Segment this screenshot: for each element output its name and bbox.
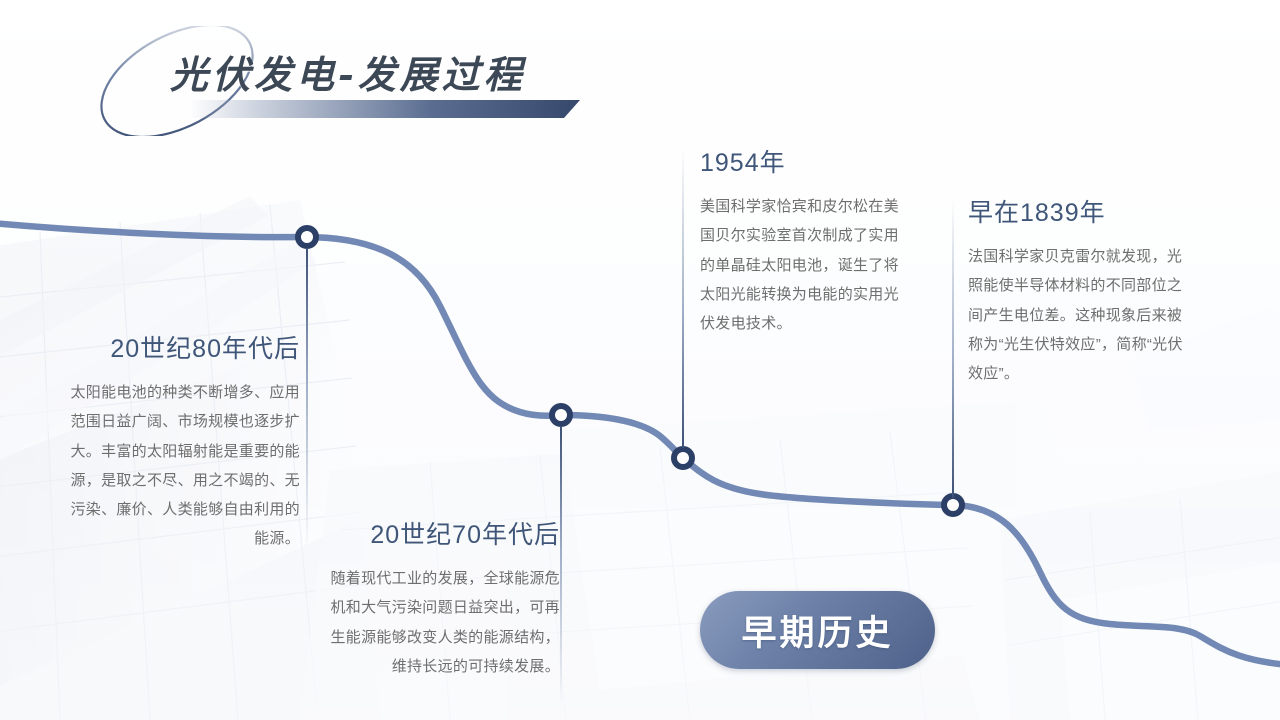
timeline-entry-70s: 20世纪70年代后 随着现代工业的发展，全球能源危机和大气污染问题日益突出，可再… <box>330 520 560 681</box>
timeline-entry-80s: 20世纪80年代后 太阳能电池的种类不断增多、应用范围日益广阔、市场规模也逐步扩… <box>60 334 300 554</box>
entry-heading: 早在1839年 <box>968 198 1186 228</box>
entry-body: 太阳能电池的种类不断增多、应用范围日益广阔、市场规模也逐步扩大。丰富的太阳辐射能… <box>60 378 300 554</box>
divider-1839 <box>952 198 954 498</box>
entry-heading: 20世纪70年代后 <box>330 520 560 550</box>
entry-body: 美国科学家恰宾和皮尔松在美国贝尔实验室首次制成了实用的单晶硅太阳电池，诞生了将太… <box>700 192 906 338</box>
entry-heading: 1954年 <box>700 148 906 178</box>
divider-70s <box>560 426 562 706</box>
entry-body: 法国科学家贝克雷尔就发现，光照能使半导体材料的不同部位之间产生电位差。这种现象后… <box>968 242 1186 388</box>
slide-canvas: 光伏发电-发展过程 20世纪80年代后 太阳能电池的种类不断增多、应用范围日益广… <box>0 0 1280 720</box>
entry-heading: 20世纪80年代后 <box>60 334 300 364</box>
timeline-entry-1839: 早在1839年 法国科学家贝克雷尔就发现，光照能使半导体材料的不同部位之间产生电… <box>968 198 1186 388</box>
section-badge[interactable]: 早期历史 <box>700 591 935 669</box>
divider-80s <box>306 248 308 548</box>
entry-body: 随着现代工业的发展，全球能源危机和大气污染问题日益突出，可再生能源能够改变人类的… <box>330 564 560 681</box>
divider-1954 <box>682 148 684 448</box>
timeline-entry-1954: 1954年 美国科学家恰宾和皮尔松在美国贝尔实验室首次制成了实用的单晶硅太阳电池… <box>700 148 906 338</box>
section-badge-label: 早期历史 <box>741 605 893 656</box>
